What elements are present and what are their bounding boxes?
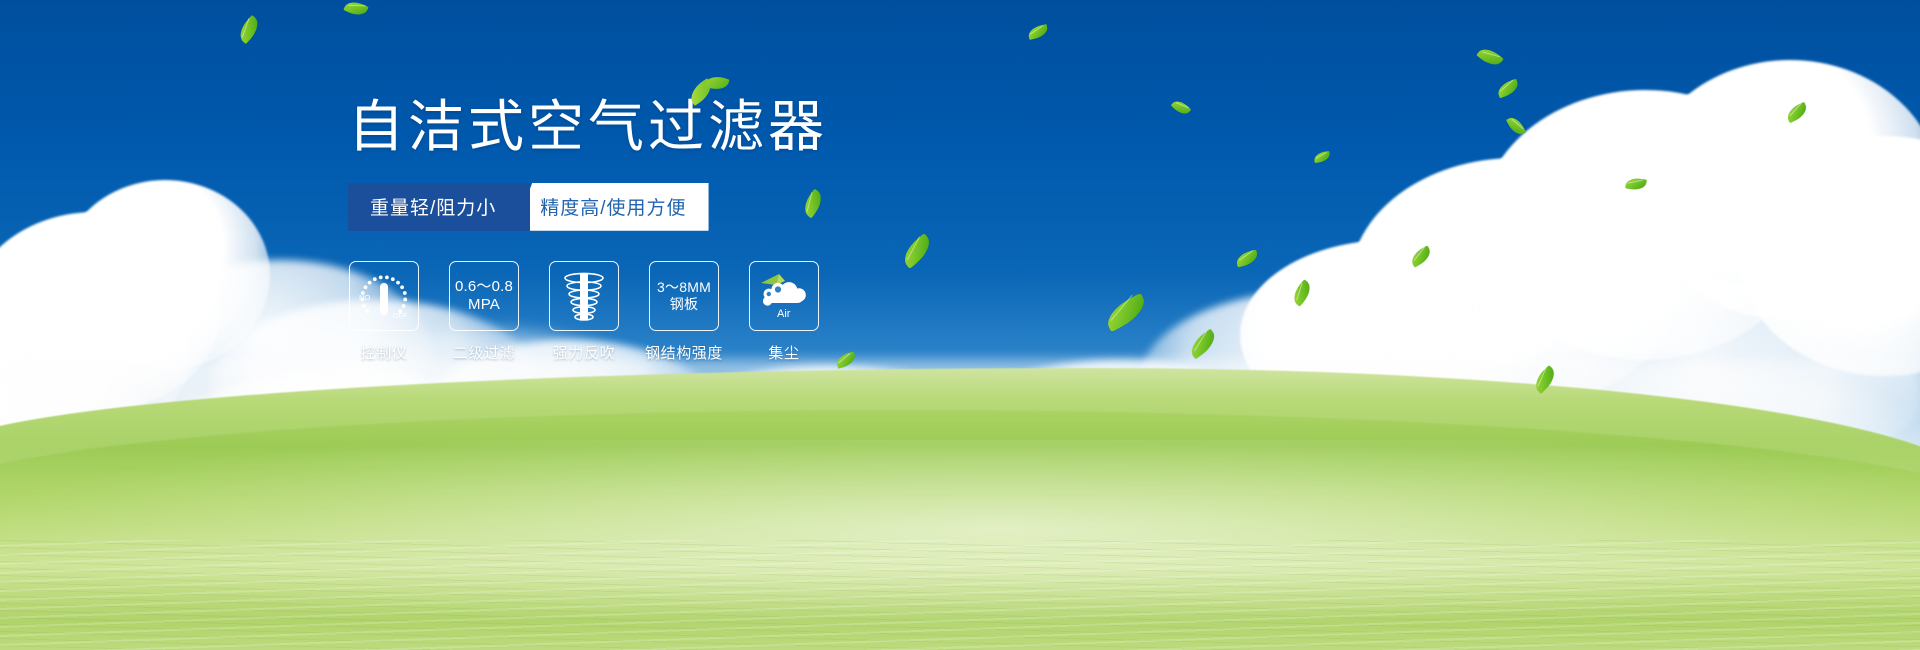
floating-leaf-icon	[1495, 79, 1520, 99]
feature-tile: 3～8MM 钢板	[649, 261, 719, 331]
feature-tile: 0.6～0.8 MPA	[449, 261, 519, 331]
horizon-haze	[0, 360, 1920, 430]
air-label: Air	[777, 308, 791, 320]
floating-leaf-icon	[1171, 97, 1192, 117]
feature-tile	[549, 261, 619, 331]
feature-item[interactable]: Air 集尘	[748, 261, 820, 363]
floating-leaf-icon	[1408, 245, 1434, 267]
feature-tile: Air	[749, 261, 819, 331]
feature-caption: 集尘	[768, 342, 799, 363]
feature-item[interactable]: 0.6～0.8 MPA 二级过滤	[448, 261, 520, 363]
pressure-unit-label: MPA	[468, 296, 500, 314]
steel-plate-text-icon: 3～8MM	[657, 279, 711, 296]
badge-weight-resistance: 重量轻/阻力小	[348, 183, 530, 231]
floating-leaf-icon	[235, 15, 264, 44]
badge-primary-label: 重量轻/阻力小	[370, 193, 496, 220]
feature-row: NO OFF 控制仪 0.6～0.8 MPA 二级过滤	[348, 261, 1068, 363]
feature-caption: 强力反吹	[553, 342, 615, 363]
page-title: 自洁式空气过滤器	[348, 96, 1068, 159]
floating-leaf-icon	[1027, 24, 1049, 40]
feature-caption: 二级过滤	[453, 342, 515, 363]
feature-tile: NO OFF	[349, 261, 419, 331]
feature-item[interactable]: 3～8MM 钢板 钢结构强度	[648, 261, 720, 363]
grass-hill-back	[0, 368, 1920, 650]
floating-leaf-icon	[1625, 176, 1647, 191]
floating-leaf-icon	[1186, 329, 1220, 360]
blowback-coil-icon	[558, 269, 610, 323]
air-cloud-icon: Air	[755, 271, 813, 321]
floating-leaf-icon	[1313, 151, 1330, 163]
feature-item[interactable]: NO OFF 控制仪	[348, 261, 420, 363]
steel-plate-material-label: 钢板	[670, 296, 698, 313]
floating-leaf-icon	[1102, 293, 1151, 332]
floating-leaf-icon	[1235, 250, 1259, 268]
promo-banner: 自洁式空气过滤器 重量轻/阻力小 精度高/使用方便	[0, 0, 1920, 650]
badge-row: 重量轻/阻力小 精度高/使用方便	[348, 183, 1068, 231]
badge-secondary-label: 精度高/使用方便	[540, 193, 686, 220]
badge-precision-convenience: 精度高/使用方便	[514, 183, 708, 231]
floating-leaf-icon	[1476, 44, 1504, 70]
dial-label-right: OFF	[393, 313, 407, 320]
feature-caption: 控制仪	[361, 342, 408, 363]
feature-item[interactable]: 强力反吹	[548, 261, 620, 363]
floating-leaf-icon	[1784, 102, 1809, 123]
control-dial-icon: NO OFF	[355, 270, 413, 322]
floating-leaf-icon	[1289, 279, 1315, 306]
feature-caption: 钢结构强度	[645, 342, 723, 363]
grass-highlight	[0, 440, 1920, 650]
floating-leaf-icon	[1506, 114, 1526, 137]
grass-texture	[0, 540, 1920, 650]
grass-hill-front	[0, 410, 1920, 650]
banner-content: 自洁式空气过滤器 重量轻/阻力小 精度高/使用方便	[348, 96, 1068, 363]
floating-leaf-icon	[1530, 365, 1559, 394]
pressure-text-icon: 0.6～0.8	[455, 278, 513, 296]
dial-label-left: NO	[359, 293, 370, 302]
floating-leaf-icon	[343, 0, 368, 19]
